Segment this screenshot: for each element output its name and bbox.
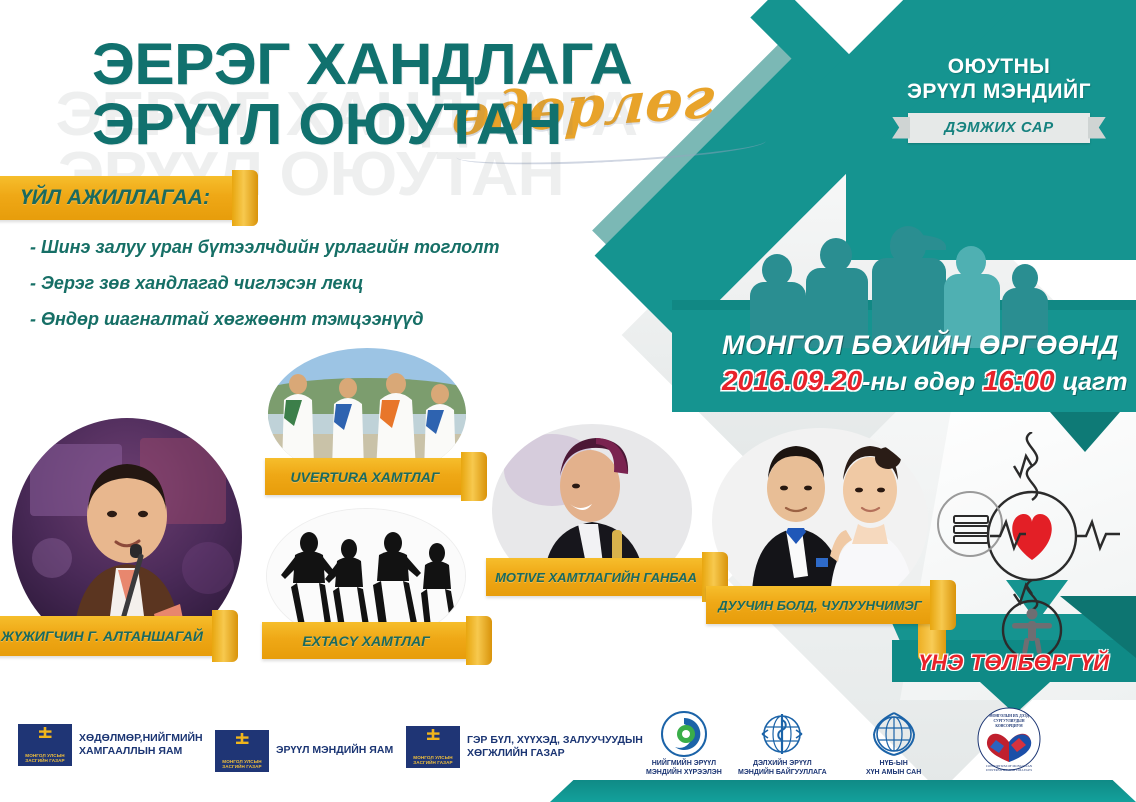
- free-admission-label: ҮНЭ ТӨЛБӨРГҮЙ: [892, 648, 1136, 678]
- ribbon-extacy: EXTACY ХАМТЛАГ: [262, 622, 470, 659]
- venue-time: 16:00: [983, 365, 1055, 396]
- activity-item: - Эерэг зөв хандлагад чиглэсэн лекц: [30, 274, 500, 292]
- mongolia-government-emblem-icon: МОНГОЛ УЛСЫН ЗАСГИЙН ГАЗАР: [215, 730, 269, 772]
- campaign-banner: ОЮУТНЫ ЭРҮҮЛ МЭНДИЙГ ДЭМЖИХ САР: [884, 55, 1114, 143]
- consortium-logo-icon: МОНГОЛЫН ИХ ДЭЭД СУРГУУЛИУДЫН КОНСОРЦИУМ…: [976, 706, 1042, 772]
- mongolia-government-emblem-icon: МОНГОЛ УЛСЫН ЗАСГИЙН ГАЗАР: [18, 724, 72, 766]
- ribbon-motive: MOTIVE ХАМТЛАГИЙН ГАНБАА: [486, 558, 706, 596]
- title-line-2: ЭРҮҮЛ ОЮУТАН: [92, 96, 632, 154]
- health-icon-cluster: [928, 432, 1136, 662]
- logo-group: НИЙГМИЙН ЭРҮҮЛ МЭНДИЙН ХҮРЭЭЛЭН: [646, 710, 722, 777]
- venue-datetime: 2016.09.20-ны өдөр 16:00 цагт: [722, 365, 1128, 397]
- ribbon-bold: ДУУЧИН БОЛД, ЧУЛУУНЧИМЭГ: [706, 586, 934, 624]
- poster-title: ЭЕРЭГ ХАНДЛАГА ЭРҮҮЛ ОЮУТАН ЭЕРЭГ ХАНДЛА…: [92, 36, 611, 154]
- emblem-caption: МОНГОЛ УЛСЫН ЗАСГИЙН ГАЗАР: [18, 753, 72, 764]
- ribbon-fold-icon: [466, 616, 492, 665]
- campaign-line-1: ОЮУТНЫ: [884, 55, 1114, 80]
- ribbon-uvertura: UVERTURA ХАМТЛАГ: [265, 458, 465, 495]
- poster-root: ЭЕРЭГ ХАНДЛАГА ЭРҮҮЛ ОЮУТАН ЭЕРЭГ ХАНДЛА…: [0, 0, 1136, 802]
- svg-text:UNIVERSITIES AND COLLEGES: UNIVERSITIES AND COLLEGES: [986, 768, 1032, 772]
- who-logo-icon: [758, 710, 806, 758]
- logo-group: НҮБ-ЫН ХҮН АМЫН САН: [866, 710, 921, 777]
- ribbon-fold-icon: [930, 580, 956, 630]
- logo-group: МОНГОЛ УЛСЫН ЗАСГИЙН ГАЗАР ГЭР БҮЛ, ХҮҮХ…: [406, 726, 643, 768]
- ribbon-fold-icon: [461, 452, 487, 501]
- activities-heading-label: ҮЙЛ АЖИЛЛАГАА:: [20, 186, 210, 210]
- activity-item: - Шинэ залуу уран бүтээлчдийн урлагийн т…: [30, 238, 500, 256]
- free-admission-text: ҮНЭ ТӨЛБӨРГҮЙ: [918, 650, 1109, 676]
- logo-label: ДЭЛХИЙН ЭРҮҮЛ МЭНДИЙН БАЙГУУЛЛАГА: [738, 760, 827, 777]
- unfpa-logo-icon: [870, 710, 918, 758]
- performer-name-extacy: EXTACY ХАМТЛАГ: [302, 633, 429, 649]
- svg-text:МОНГОЛЫН ИХ ДЭЭД: МОНГОЛЫН ИХ ДЭЭД: [989, 714, 1029, 718]
- logo-group: ДЭЛХИЙН ЭРҮҮЛ МЭНДИЙН БАЙГУУЛЛАГА: [738, 710, 827, 777]
- activity-item: - Өндөр шагналтай хөгжөөнт тэмцээнүүд: [30, 310, 500, 328]
- campaign-ribbon-label: ДЭМЖИХ САР: [944, 119, 1053, 136]
- campaign-ribbon: ДЭМЖИХ САР: [908, 113, 1090, 143]
- logo-group: МОНГОЛ УЛСЫН ЗАСГИЙН ГАЗАР ХӨДӨЛМӨР,НИЙГ…: [18, 724, 203, 766]
- ribbon-fold-icon: [232, 170, 258, 226]
- ribbon-fold-icon: [212, 610, 238, 662]
- logo-label: ЭРҮҮЛ МЭНДИЙН ЯАМ: [276, 744, 393, 757]
- logo-group: МОНГОЛ УЛСЫН ЗАСГИЙН ГАЗАР ЭРҮҮЛ МЭНДИЙН…: [215, 730, 393, 772]
- logo-group: МОНГОЛЫН ИХ ДЭЭД СУРГУУЛИУДЫН КОНСОРЦИУМ…: [976, 706, 1042, 772]
- logo-label: ГЭР БҮЛ, ХҮҮХЭД, ЗАЛУУЧУУДЫН ХӨГЖЛИЙН ГА…: [467, 734, 643, 761]
- venue-time-suffix: цагт: [1062, 368, 1127, 396]
- emblem-caption: МОНГОЛ УЛСЫН ЗАСГИЙН ГАЗАР: [215, 759, 269, 770]
- soyombo-icon: [427, 729, 440, 753]
- sponsor-logos: МОНГОЛ УЛСЫН ЗАСГИЙН ГАЗАР ХӨДӨЛМӨР,НИЙГ…: [18, 710, 1126, 788]
- performer-name-uvertura: UVERTURA ХАМТЛАГ: [291, 469, 440, 485]
- performer-name-bold: ДУУЧИН БОЛД, ЧУЛУУНЧИМЭГ: [718, 598, 922, 613]
- svg-text:КОНСОРЦИУМ: КОНСОРЦИУМ: [995, 724, 1023, 728]
- title-line-1: ЭЕРЭГ ХАНДЛАГА: [92, 36, 632, 94]
- cap-icon: [896, 232, 948, 256]
- performer-name-altanshagai: ЖҮЖИГЧИН Г. АЛТАНШАГАЙ: [1, 628, 203, 644]
- soyombo-icon: [236, 733, 249, 757]
- venue-date-suffix: -ны өдөр: [862, 368, 975, 396]
- mongolia-government-emblem-icon: МОНГОЛ УЛСЫН ЗАСГИЙН ГАЗАР: [406, 726, 460, 768]
- svg-text:СУРГУУЛИУДЫН: СУРГУУЛИУДЫН: [993, 719, 1024, 723]
- soyombo-icon: [39, 727, 52, 751]
- logo-label: НИЙГМИЙН ЭРҮҮЛ МЭНДИЙН ХҮРЭЭЛЭН: [646, 760, 722, 777]
- activities-list: - Шинэ залуу уран бүтээлчдийн урлагийн т…: [30, 238, 500, 346]
- venue-date: 2016.09.20: [722, 365, 862, 396]
- campaign-line-2: ЭРҮҮЛ МЭНДИЙГ: [884, 80, 1114, 105]
- logo-label: НҮБ-ЫН ХҮН АМЫН САН: [866, 760, 921, 777]
- venue-info: МОНГОЛ БӨХИЙН ӨРГӨӨНД 2016.09.20-ны өдөр…: [722, 330, 1128, 397]
- performer-name-motive: MOTIVE ХАМТЛАГИЙН ГАНБАА: [495, 570, 697, 585]
- emblem-caption: МОНГОЛ УЛСЫН ЗАСГИЙН ГАЗАР: [406, 755, 460, 766]
- public-health-institute-icon: [660, 710, 708, 758]
- activities-heading-ribbon: ҮЙЛ АЖИЛЛАГАА:: [0, 176, 236, 220]
- ribbon-altanshagai: ЖҮЖИГЧИН Г. АЛТАНШАГАЙ: [0, 616, 216, 656]
- venue-place: МОНГОЛ БӨХИЙН ӨРГӨӨНД: [722, 330, 1128, 361]
- logo-label: ХӨДӨЛМӨР,НИЙГМИЙН ХАМГААЛЛЫН ЯАМ: [79, 732, 203, 759]
